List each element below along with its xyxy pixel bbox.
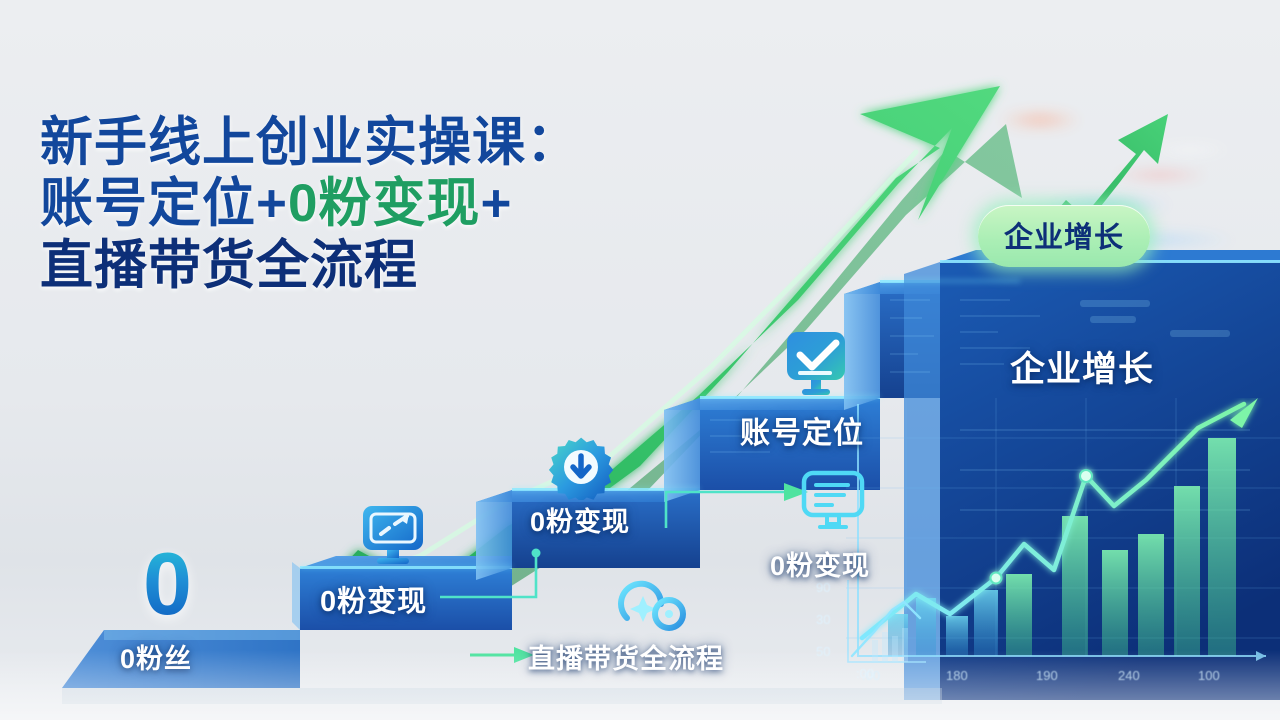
step-label-convert: 0粉变现 xyxy=(770,544,870,583)
monitor-check-icon xyxy=(782,327,854,405)
title-segment: 新手线上创业实操课： xyxy=(40,113,580,172)
gear-download-icon xyxy=(548,434,614,500)
connector-arrow-step3-to-step4 xyxy=(660,470,820,530)
title-segment: 0粉变现 xyxy=(288,174,480,233)
svg-text:180: 180 xyxy=(946,668,968,683)
step-label-step2: 0粉变现 xyxy=(320,578,427,620)
svg-text:190: 190 xyxy=(1036,668,1058,683)
poster-canvas: :00 180 190 240 100 90 30 50 :00 xyxy=(0,0,1280,720)
svg-text:240: 240 xyxy=(1118,668,1140,683)
title-line-1: 新手线上创业实操课： xyxy=(40,112,720,173)
title-line-2: 账号定位+0粉变现+ xyxy=(40,173,720,234)
title-line-3: 直播带货全流程 xyxy=(40,235,720,296)
mini-chart-ytick-2: 50 xyxy=(816,644,830,659)
step-label-step3: 0粉变现 xyxy=(530,500,630,539)
step-label-0fans: 0粉丝 xyxy=(120,637,192,676)
mini-chart-ytick-1: 30 xyxy=(816,612,830,627)
title-segment: + xyxy=(480,174,512,233)
connector-arrow-step2-to-step3 xyxy=(440,545,640,615)
step-label-live: 直播带货全流程 xyxy=(528,637,724,676)
title-segment: + xyxy=(256,174,288,233)
monitor-chart-icon xyxy=(357,498,429,570)
page-title: 新手线上创业实操课： 账号定位+0粉变现+ 直播带货全流程 xyxy=(40,112,720,296)
growth-badge: 企业增长 xyxy=(978,205,1150,267)
mini-growth-chart: 90 30 50 :00 xyxy=(812,574,932,682)
title-segment: 账号定位 xyxy=(40,174,256,233)
step-label-step4: 账号定位 xyxy=(740,408,864,452)
svg-text:100: 100 xyxy=(1198,668,1220,683)
live-camera-icon xyxy=(617,572,689,638)
title-segment: 直播带货全流程 xyxy=(40,236,418,295)
step-label-growth: 企业增长 xyxy=(1010,341,1154,392)
document-panel-icon xyxy=(798,465,868,535)
big-zero-marker: 0 xyxy=(143,540,192,628)
mini-chart-xtick-0: :00 xyxy=(856,666,874,681)
